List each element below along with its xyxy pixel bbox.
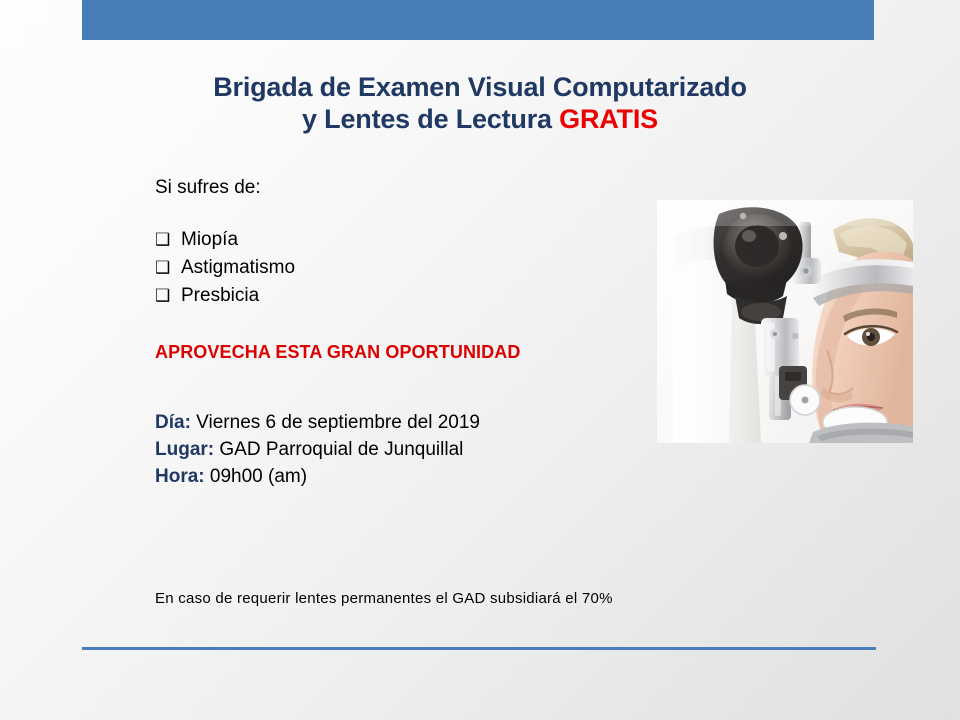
slide-canvas: Brigada de Examen Visual Computarizado y…	[0, 0, 960, 720]
eye-exam-illustration	[657, 200, 913, 443]
title-line-2-prefix: y Lentes de Lectura	[302, 104, 559, 134]
call-to-action-text: APROVECHA ESTA GRAN OPORTUNIDAD	[155, 342, 655, 363]
checkbox-icon: ❑	[155, 226, 181, 254]
eye-exam-photo	[657, 200, 913, 443]
lead-text: Si sufres de:	[155, 176, 655, 200]
detail-label: Día:	[155, 412, 191, 433]
detail-value: GAD Parroquial de Junquillal	[214, 439, 463, 460]
body-content-column: Si sufres de: ❑ Miopía ❑ Astigmatismo ❑ …	[155, 176, 655, 490]
list-item-label: Presbicia	[181, 282, 259, 310]
title-gratis-highlight: GRATIS	[559, 104, 658, 134]
detail-label: Hora:	[155, 466, 205, 487]
title-line-2: y Lentes de Lectura GRATIS	[0, 104, 960, 136]
conditions-list: ❑ Miopía ❑ Astigmatismo ❑ Presbicia	[155, 226, 655, 310]
detail-row-hora: Hora: 09h00 (am)	[155, 463, 655, 490]
list-item: ❑ Miopía	[155, 226, 655, 254]
checkbox-icon: ❑	[155, 282, 181, 310]
detail-row-dia: Día: Viernes 6 de septiembre del 2019	[155, 409, 655, 436]
detail-value: Viernes 6 de septiembre del 2019	[191, 412, 480, 433]
checkbox-icon: ❑	[155, 254, 181, 282]
top-accent-bar	[82, 0, 874, 40]
list-item-label: Miopía	[181, 226, 238, 254]
detail-value: 09h00 (am)	[205, 466, 307, 487]
title-line-1: Brigada de Examen Visual Computarizado	[0, 72, 960, 104]
list-item-label: Astigmatismo	[181, 254, 295, 282]
page-title: Brigada de Examen Visual Computarizado y…	[0, 72, 960, 136]
bottom-accent-rule	[82, 647, 876, 650]
list-item: ❑ Presbicia	[155, 282, 655, 310]
detail-row-lugar: Lugar: GAD Parroquial de Junquillal	[155, 436, 655, 463]
detail-label: Lugar:	[155, 439, 214, 460]
footnote-text: En caso de requerir lentes permanentes e…	[155, 590, 613, 607]
list-item: ❑ Astigmatismo	[155, 254, 655, 282]
event-details: Día: Viernes 6 de septiembre del 2019 Lu…	[155, 409, 655, 490]
